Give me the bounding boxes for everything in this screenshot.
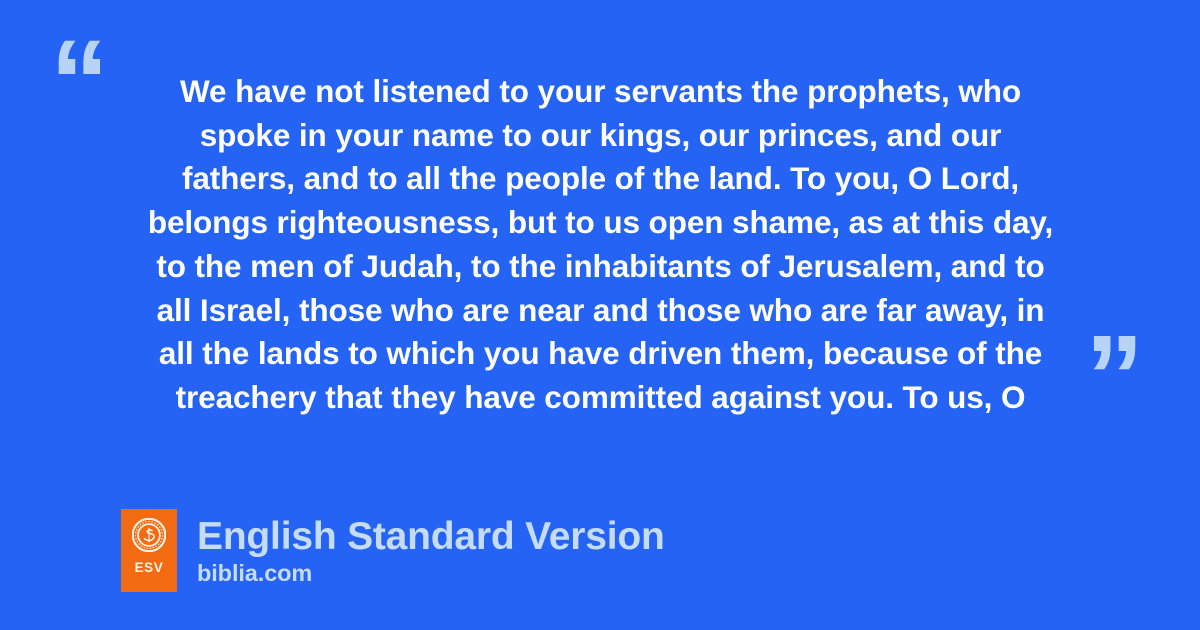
quote-line: all the lands to which you have driven t… (118, 332, 1083, 376)
esv-seal-icon (132, 518, 166, 552)
quote-line: belongs righteousness, but to us open sh… (118, 201, 1083, 245)
quote-line: fathers, and to all the people of the la… (118, 157, 1083, 201)
esv-logo-badge: ESV (121, 509, 177, 592)
branding-footer: ESV English Standard Version biblia.com (121, 509, 665, 592)
quote-line: to the men of Judah, to the inhabitants … (118, 245, 1083, 289)
verse-quote-card: “ We have not listened to your servants … (0, 0, 1200, 630)
quote-line: spoke in your name to our kings, our pri… (118, 114, 1083, 158)
quote-line: all Israel, those who are near and those… (118, 289, 1083, 333)
opening-quote-icon: “ (50, 23, 109, 141)
quote-line: We have not listened to your servants th… (118, 70, 1083, 114)
closing-quote-icon: ” (1085, 318, 1144, 436)
site-url-label: biblia.com (197, 560, 665, 587)
quote-text: We have not listened to your servants th… (118, 70, 1083, 420)
brand-text-block: English Standard Version biblia.com (197, 515, 665, 587)
bible-version-title: English Standard Version (197, 515, 665, 559)
esv-abbreviation-label: ESV (135, 561, 164, 575)
quote-line: treachery that they have committed again… (118, 376, 1083, 420)
